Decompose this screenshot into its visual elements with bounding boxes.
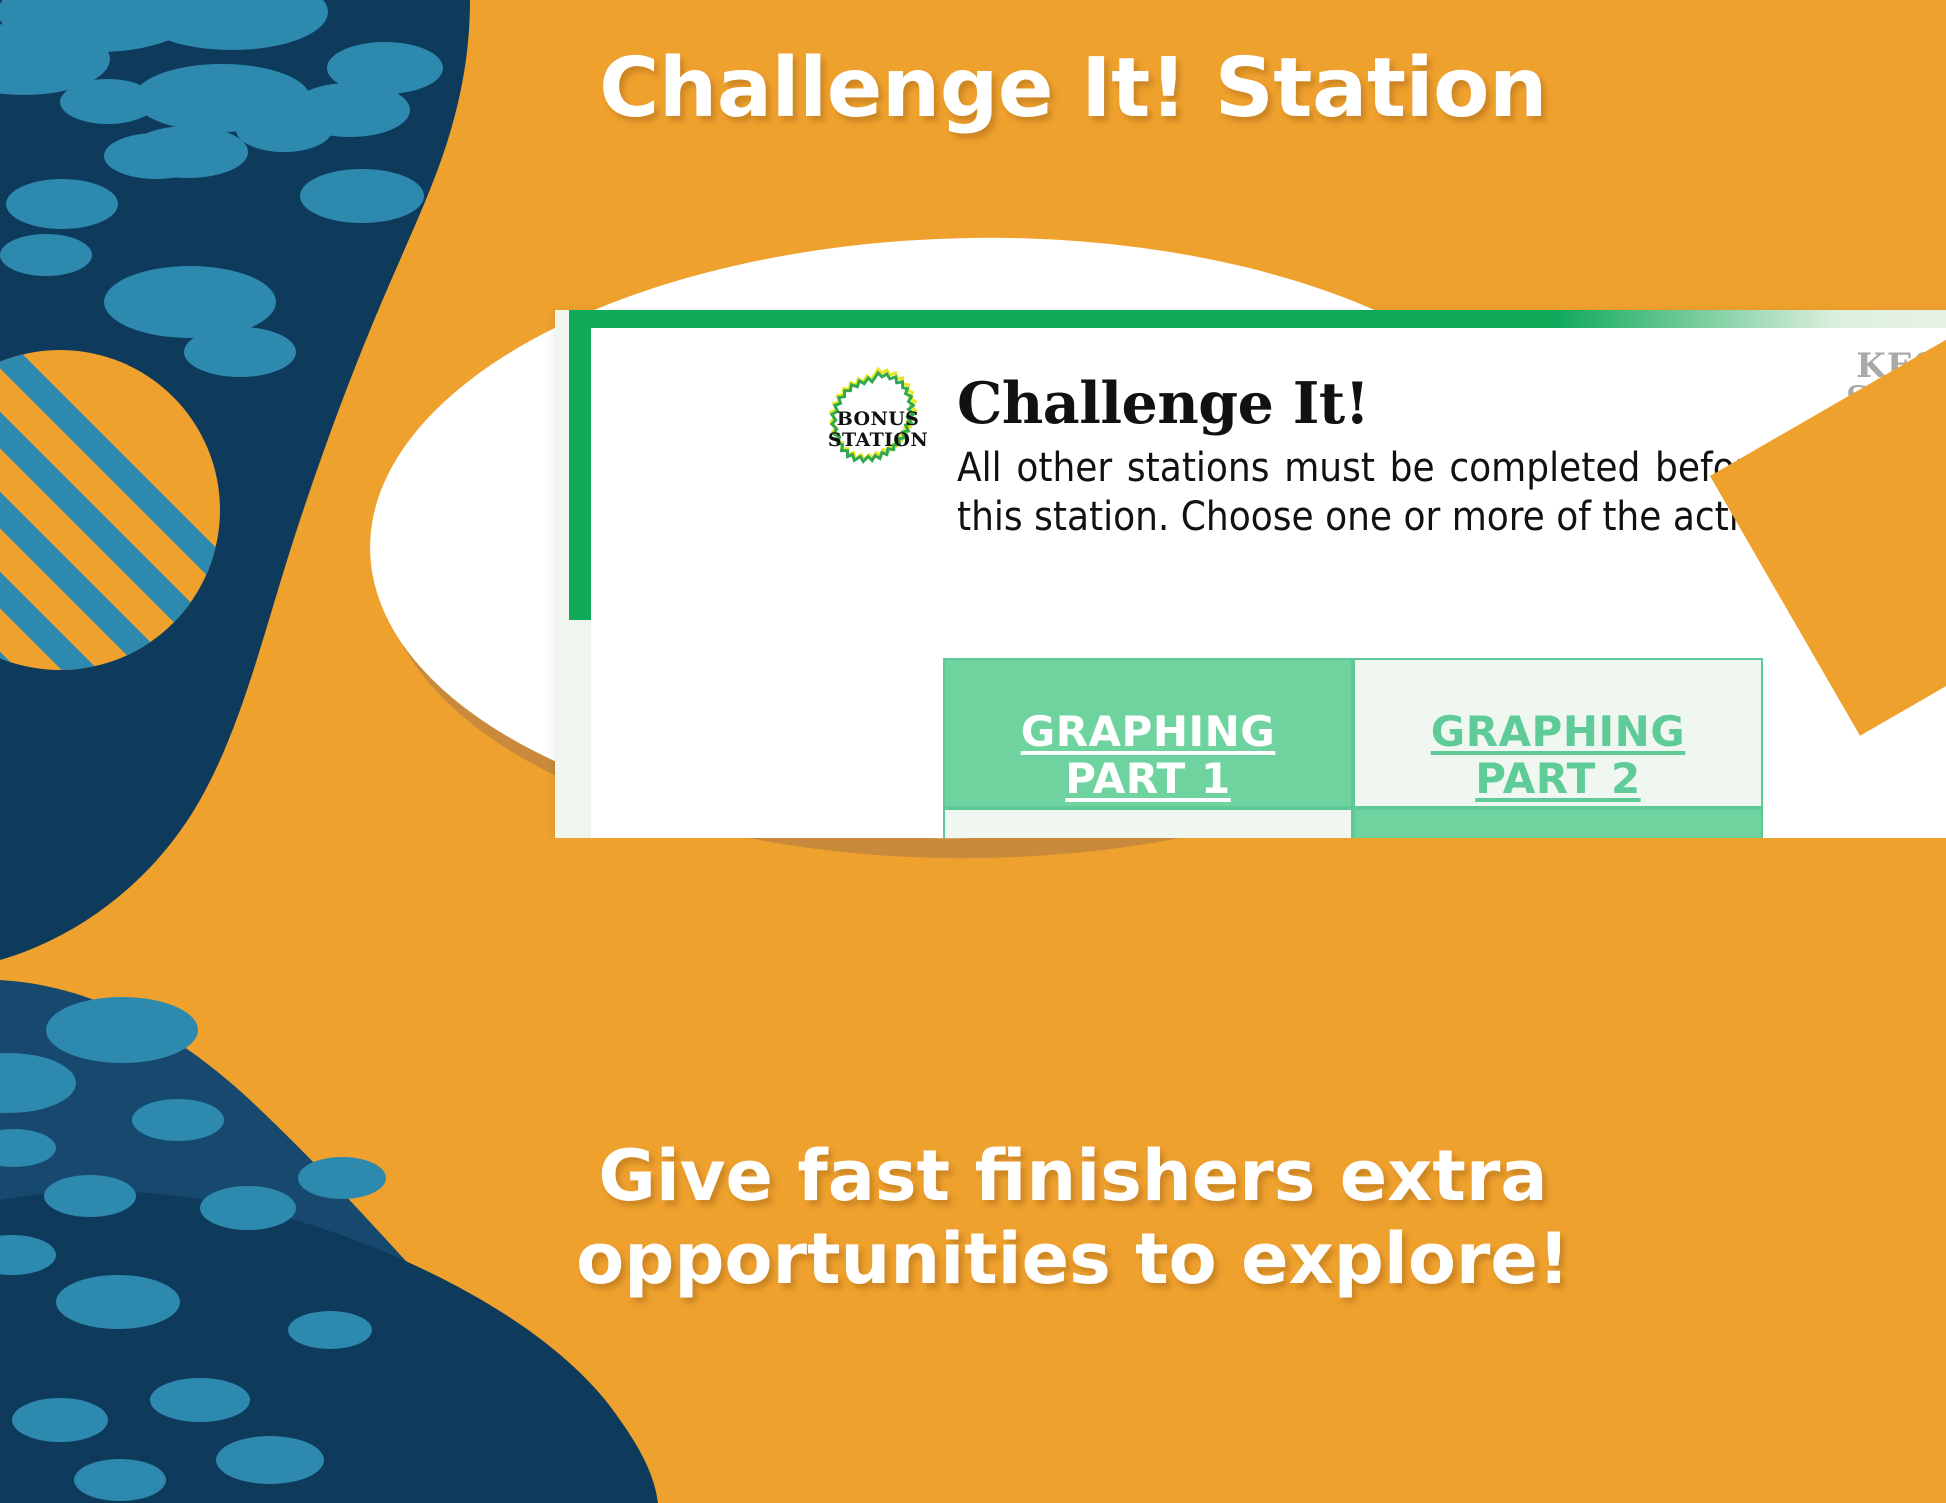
activity-label-line-1: GRAPHING — [1021, 708, 1276, 755]
activity-cell-graphing-part-1[interactable]: GRAPHING PART 1 — [943, 658, 1353, 808]
activity-table: GRAPHING PART 1 GRAPHING PART 2 — [943, 658, 1763, 838]
document-preview: BONUS STATION Challenge It! All other st… — [370, 238, 1946, 838]
activity-label-line-2: PART 2 — [1431, 755, 1686, 802]
green-accent-bar — [569, 310, 591, 620]
table-row: GRAPHING PART 1 GRAPHING PART 2 — [943, 658, 1763, 808]
activity-cell-next-left[interactable] — [943, 808, 1353, 838]
bonus-station-badge: BONUS STATION — [819, 366, 937, 494]
activity-link[interactable]: GRAPHING PART 1 — [1021, 708, 1276, 802]
document-body: BONUS STATION Challenge It! All other st… — [591, 328, 1946, 838]
badge-line-2: STATION — [828, 430, 928, 451]
page-title: Challenge It! Station — [0, 46, 1946, 132]
table-row — [943, 808, 1763, 838]
challenge-it-worksheet: BONUS STATION Challenge It! All other st… — [555, 310, 1946, 838]
activity-cell-next-right[interactable] — [1353, 808, 1763, 838]
green-top-bar-fade — [1555, 310, 1946, 328]
slide-canvas: Challenge It! Station BO — [0, 0, 1946, 1503]
activity-cell-graphing-part-2[interactable]: GRAPHING PART 2 — [1353, 658, 1763, 808]
subtitle-line-1: Give fast finishers extra — [0, 1135, 1946, 1218]
activity-label-line-1: GRAPHING — [1431, 708, 1686, 755]
badge-line-1: BONUS — [837, 409, 920, 430]
document-heading: Challenge It! — [957, 370, 1369, 437]
activity-label-line-2: PART 1 — [1021, 755, 1276, 802]
subtitle-line-2: opportunities to explore! — [0, 1218, 1946, 1301]
activity-link[interactable]: GRAPHING PART 2 — [1431, 708, 1686, 802]
badge-label: BONUS STATION — [819, 366, 937, 494]
